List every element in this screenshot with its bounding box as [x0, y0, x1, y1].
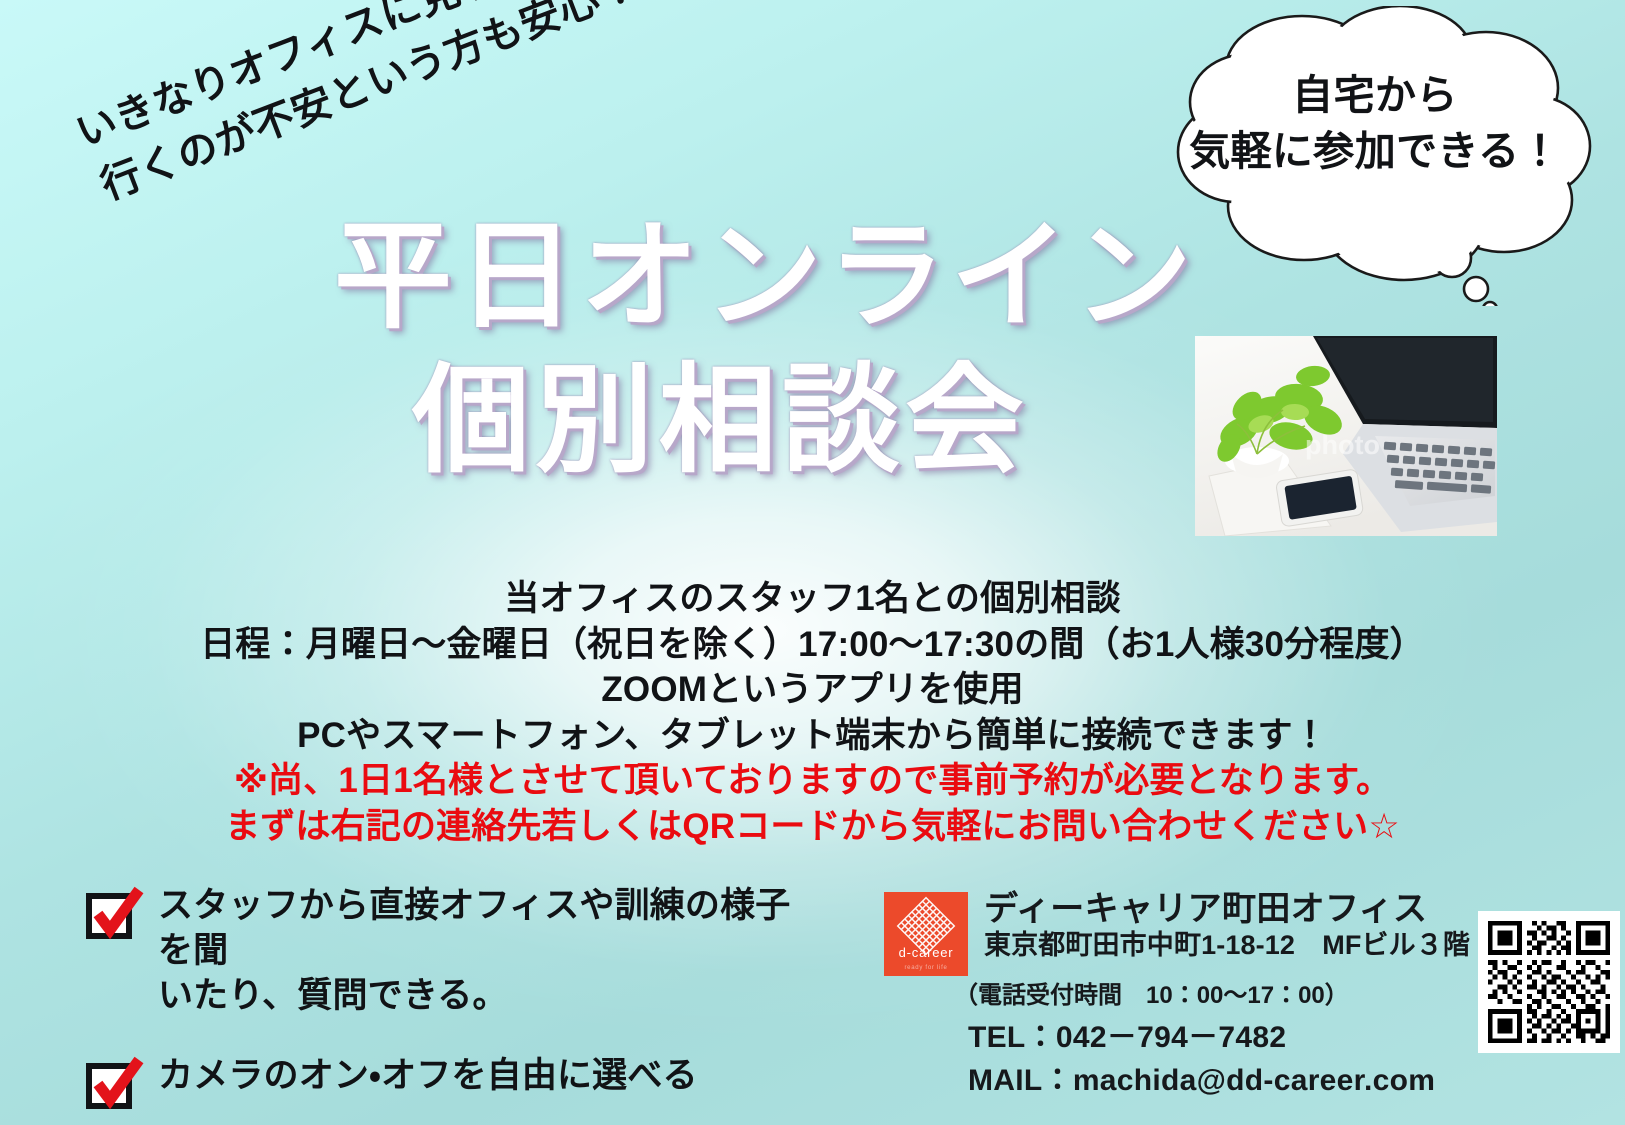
- logo-tagline: ready for life: [884, 965, 968, 971]
- contact-header: d-career ready for life ディーキャリア町田オフィス 東京…: [884, 890, 1444, 976]
- contact-names: ディーキャリア町田オフィス 東京都町田市中町1-18-12 MFビル３階: [984, 890, 1470, 961]
- office-name: ディーキャリア町田オフィス: [984, 890, 1470, 929]
- list-item-label-line1: カメラのオン・オフを自由に選べる: [158, 1054, 698, 1099]
- checkbox-checked-icon: [86, 888, 142, 940]
- office-address: 東京都町田市中町1-18-12 MFビル３階: [984, 929, 1470, 961]
- body-line-5-plain: ※尚、1日1名様とさせて頂いておりますので: [234, 761, 939, 800]
- desk-photo-illustration: photo: [1195, 336, 1497, 536]
- desk-photo: photo: [1195, 336, 1497, 536]
- logo-wordmark: d-career: [884, 945, 968, 960]
- checkbox-checked-icon: [86, 1058, 142, 1110]
- photo-watermark: photo: [1305, 430, 1380, 460]
- body-line-4: PCやスマートフォン、タブレット端末から簡単に接続できます！: [0, 713, 1625, 759]
- body-line-6: まずは右記の連絡先若しくはQRコードから気軽にお問い合わせください☆: [0, 804, 1625, 850]
- contact-tel[interactable]: TEL：042－794－7482: [884, 1017, 1444, 1060]
- list-item-label-line2: いたり、質問できる。: [158, 974, 816, 1019]
- office-hours: （電話受付時間 10：00〜17：00）: [884, 980, 1444, 1011]
- list-item-label: カメラのオン・オフを自由に選べる: [158, 1054, 698, 1099]
- list-item-label-line1: スタッフから直接オフィスや訓練の様子を聞: [158, 884, 816, 974]
- poster-root: いきなりオフィスに見学に 行くのが不安という方も安心！: [0, 0, 1625, 1125]
- catch-copy: いきなりオフィスに見学に 行くのが不安という方も安心！: [68, 0, 647, 217]
- page-title: 平日オンライン 個別相談会: [320, 206, 1120, 494]
- benefits-checklist: スタッフから直接オフィスや訓練の様子を聞 いたり、質問できる。 カメラのオン・オ…: [86, 884, 816, 1125]
- list-item-label: スタッフから直接オフィスや訓練の様子を聞 いたり、質問できる。: [158, 884, 816, 1018]
- thought-bubble: 自宅から 気軽に参加できる！: [1152, 6, 1598, 306]
- qr-code-image: [1478, 911, 1620, 1053]
- body-line-5-emphasis: 事前予約が必要となります。: [938, 761, 1391, 800]
- body-line-5: ※尚、1日1名様とさせて頂いておりますので事前予約が必要となります。: [0, 758, 1625, 804]
- page-title-line2: 個別相談会: [320, 350, 1120, 494]
- qr-code[interactable]: [1478, 911, 1620, 1053]
- d-career-logo: d-career ready for life: [884, 892, 968, 976]
- thought-bubble-shape: [1152, 6, 1598, 306]
- contact-block: d-career ready for life ディーキャリア町田オフィス 東京…: [884, 890, 1444, 1102]
- body-line-2: 日程：月曜日〜金曜日（祝日を除く）17:00〜17:30の間（お1人様30分程度…: [0, 622, 1625, 668]
- page-title-line1: 平日オンライン: [320, 206, 1120, 350]
- list-item: スタッフから直接オフィスや訓練の様子を聞 いたり、質問できる。: [86, 884, 816, 1018]
- logo-diamond-icon: [884, 892, 968, 976]
- body-line-1: 当オフィスのスタッフ1名との個別相談: [0, 576, 1625, 622]
- body-text: 当オフィスのスタッフ1名との個別相談 日程：月曜日〜金曜日（祝日を除く）17:0…: [0, 576, 1625, 849]
- list-item: カメラのオン・オフを自由に選べる: [86, 1054, 816, 1110]
- contact-mail[interactable]: MAIL：machida@dd-career.com: [884, 1060, 1444, 1103]
- body-line-3: ZOOMというアプリを使用: [0, 667, 1625, 713]
